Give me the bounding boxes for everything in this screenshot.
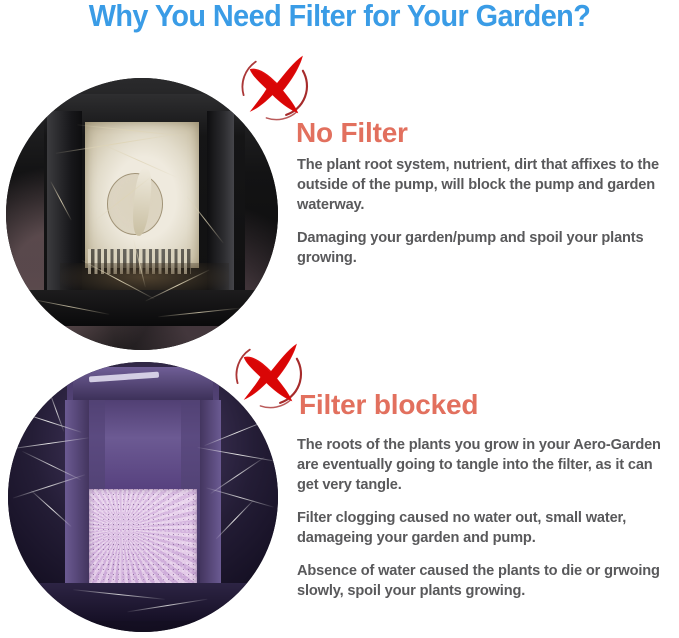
page-title: Why You Need Filter for Your Garden? — [24, 0, 655, 34]
section-heading-filter-blocked: Filter blocked — [299, 389, 478, 421]
paragraph: Absence of water caused the plants to di… — [297, 561, 665, 601]
paragraph: The plant root system, nutrient, dirt th… — [297, 155, 665, 215]
paragraph: The roots of the plants you grow in your… — [297, 435, 665, 495]
section-body-filter-blocked: The roots of the plants you grow in your… — [297, 435, 665, 601]
red-x-icon — [236, 48, 312, 124]
section-body-no-filter: The plant root system, nutrient, dirt th… — [297, 155, 665, 268]
paragraph: Damaging your garden/pump and spoil your… — [297, 228, 665, 268]
section-heading-no-filter: No Filter — [296, 117, 408, 149]
paragraph: Filter clogging caused no water out, sma… — [297, 508, 665, 548]
infographic-page: Why You Need Filter for Your Garden? — [0, 0, 679, 638]
red-x-icon — [230, 336, 306, 412]
